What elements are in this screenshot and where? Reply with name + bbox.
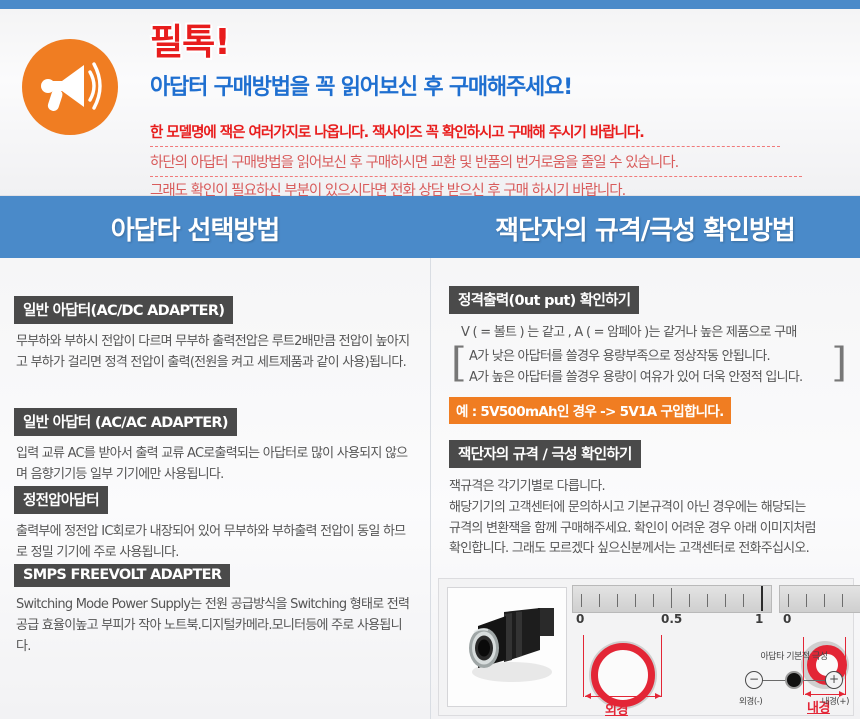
megaphone-icon	[22, 39, 118, 135]
adapter-block-regulated: 정전압아답터 출력부에 정전압 IC회로가 내장되어 있어 무부하와 부하출력 …	[14, 486, 414, 563]
block-body: 무부하와 부하시 전압이 다르며 무부하 출력전압은 루트2배만큼 전압이 높아…	[16, 331, 414, 373]
bracket-line-2: A가 높은 아답터를 쓸경우 용량이 여유가 있어 더욱 안정적 입니다.	[469, 368, 823, 389]
ruler-outer	[572, 585, 772, 613]
adapter-block-acac: 일반 아답터 (AC/AC ADAPTER) 입력 교류 AC를 받아서 출력 …	[14, 408, 414, 485]
outer-ring-highlight	[591, 643, 655, 707]
notice-banner: 필톡! 아답터 구매방법을 꼭 읽어보신 후 구매해주세요! 한 모델명에 잭은…	[0, 9, 860, 196]
minus-terminal-icon: −	[745, 671, 763, 689]
block-heading: 정격출력(0ut put) 확인하기	[449, 286, 639, 314]
center-pin-icon	[785, 671, 803, 689]
left-column: 일반 아답터(AC/DC ADAPTER) 무부하와 부하시 전압이 다르며 무…	[0, 258, 431, 719]
polarity-label-plus: 내경(+)	[822, 695, 849, 707]
block-heading: 일반 아답터 (AC/AC ADAPTER)	[14, 408, 237, 436]
outer-diameter-label: 외경	[605, 699, 628, 718]
block-heading: 정전압아답터	[14, 486, 108, 514]
jack-measure-figure: 0 0.5 1 0 0.5 1 외경 내경 아답타 기본적 극성	[438, 578, 854, 716]
block-heading: 잭단자의 규격 / 극성 확인하기	[449, 440, 641, 468]
dc-plug-photo	[447, 587, 567, 707]
adapter-block-smps: SMPS FREEVOLT ADAPTER Switching Mode Pow…	[14, 564, 414, 657]
output-rating-line-1: V ( = 볼트 ) 는 같고 , A ( = 암페아 )는 같거나 높은 제품…	[461, 323, 849, 344]
plus-terminal-icon: +	[825, 671, 843, 689]
polarity-diagram: 아답타 기본적 극성 − + 외경(-) 내경(+)	[739, 649, 849, 707]
section-header-right: 잭단자의 규격/극성 확인방법	[430, 196, 860, 258]
top-blue-strip	[0, 0, 860, 9]
jack-line-1: 잭규격은 각기기별로 다릅니다.	[449, 477, 849, 498]
section-title-left: 아답타 선택방법	[0, 210, 430, 247]
block-body: 입력 교류 AC를 받아서 출력 교류 AC로출력되는 아답터로 많이 사용되지…	[16, 443, 414, 485]
ruler-inner-tick-0: 0	[783, 612, 791, 626]
ruler-outer-tick-1: 1	[755, 612, 763, 626]
outer-guide-right	[661, 635, 662, 697]
banner-line-1: 한 모델명에 잭은 여러가지로 나옵니다. 잭사이즈 꼭 확인하시고 구매해 주…	[150, 121, 780, 147]
page-root: 필톡! 아답터 구매방법을 꼭 읽어보신 후 구매해주세요! 한 모델명에 잭은…	[0, 0, 860, 719]
outer-dimension-arrow	[585, 696, 661, 697]
ruler-outer-tick-half: 0.5	[661, 612, 682, 626]
example-highlight: 예 : 5V500mAh인 경우 -> 5V1A 구입합니다.	[449, 397, 731, 424]
jack-line-3: 규격의 변환잭을 함께 구매해주세요. 확인이 어려운 경우 아래 이미지처럼	[449, 519, 849, 540]
ruler-inner	[779, 585, 860, 613]
block-body: 출력부에 정전압 IC회로가 내장되어 있어 무부하와 부하출력 전압이 동일 …	[16, 521, 414, 563]
outer-guide-left	[583, 635, 584, 697]
section-title-right: 잭단자의 규격/극성 확인방법	[430, 210, 860, 247]
block-heading: 일반 아답터(AC/DC ADAPTER)	[14, 296, 233, 324]
polarity-label-minus: 외경(-)	[739, 695, 762, 707]
bracket-line-1: A가 낮은 아답터를 쓸경우 용량부족으로 정상작동 안됩니다.	[469, 347, 823, 368]
output-rating-block: 정격출력(0ut put) 확인하기 V ( = 볼트 ) 는 같고 , A (…	[449, 286, 849, 424]
output-rating-bracket: A가 낮은 아답터를 쓸경우 용량부족으로 정상작동 안됩니다. A가 높은 아…	[449, 347, 849, 389]
adapter-block-acdc: 일반 아답터(AC/DC ADAPTER) 무부하와 부하시 전압이 다르며 무…	[14, 296, 414, 373]
jack-line-2: 해당기기의 고객센터에 문의하시고 기본규격이 아닌 경우에는 해당되는	[449, 498, 849, 519]
megaphone-glyph	[38, 59, 104, 117]
section-header-left: 아답타 선택방법	[0, 196, 430, 258]
jack-line-4: 확인합니다. 그래도 모르겠다 싶으신분께서는 고객센터로 전화주십시오.	[449, 539, 849, 560]
ruler-outer-tick-0: 0	[576, 612, 584, 626]
banner-subtitle: 아답터 구매방법을 꼭 읽어보신 후 구매해주세요!	[150, 69, 572, 101]
block-heading: SMPS FREEVOLT ADAPTER	[14, 564, 230, 587]
block-body: Switching Mode Power Supply는 전원 공급방식을 Sw…	[16, 594, 414, 657]
polarity-title: 아답타 기본적 극성	[739, 649, 849, 662]
jack-spec-block: 잭단자의 규격 / 극성 확인하기 잭규격은 각기기별로 다릅니다. 해당기기의…	[449, 440, 849, 594]
dc-plug-illustration	[460, 606, 556, 688]
banner-title: 필톡!	[150, 25, 230, 61]
banner-line-2: 하단의 아답터 구매방법을 읽어보신 후 구매하시면 교환 및 반품의 번거로움…	[150, 151, 802, 177]
